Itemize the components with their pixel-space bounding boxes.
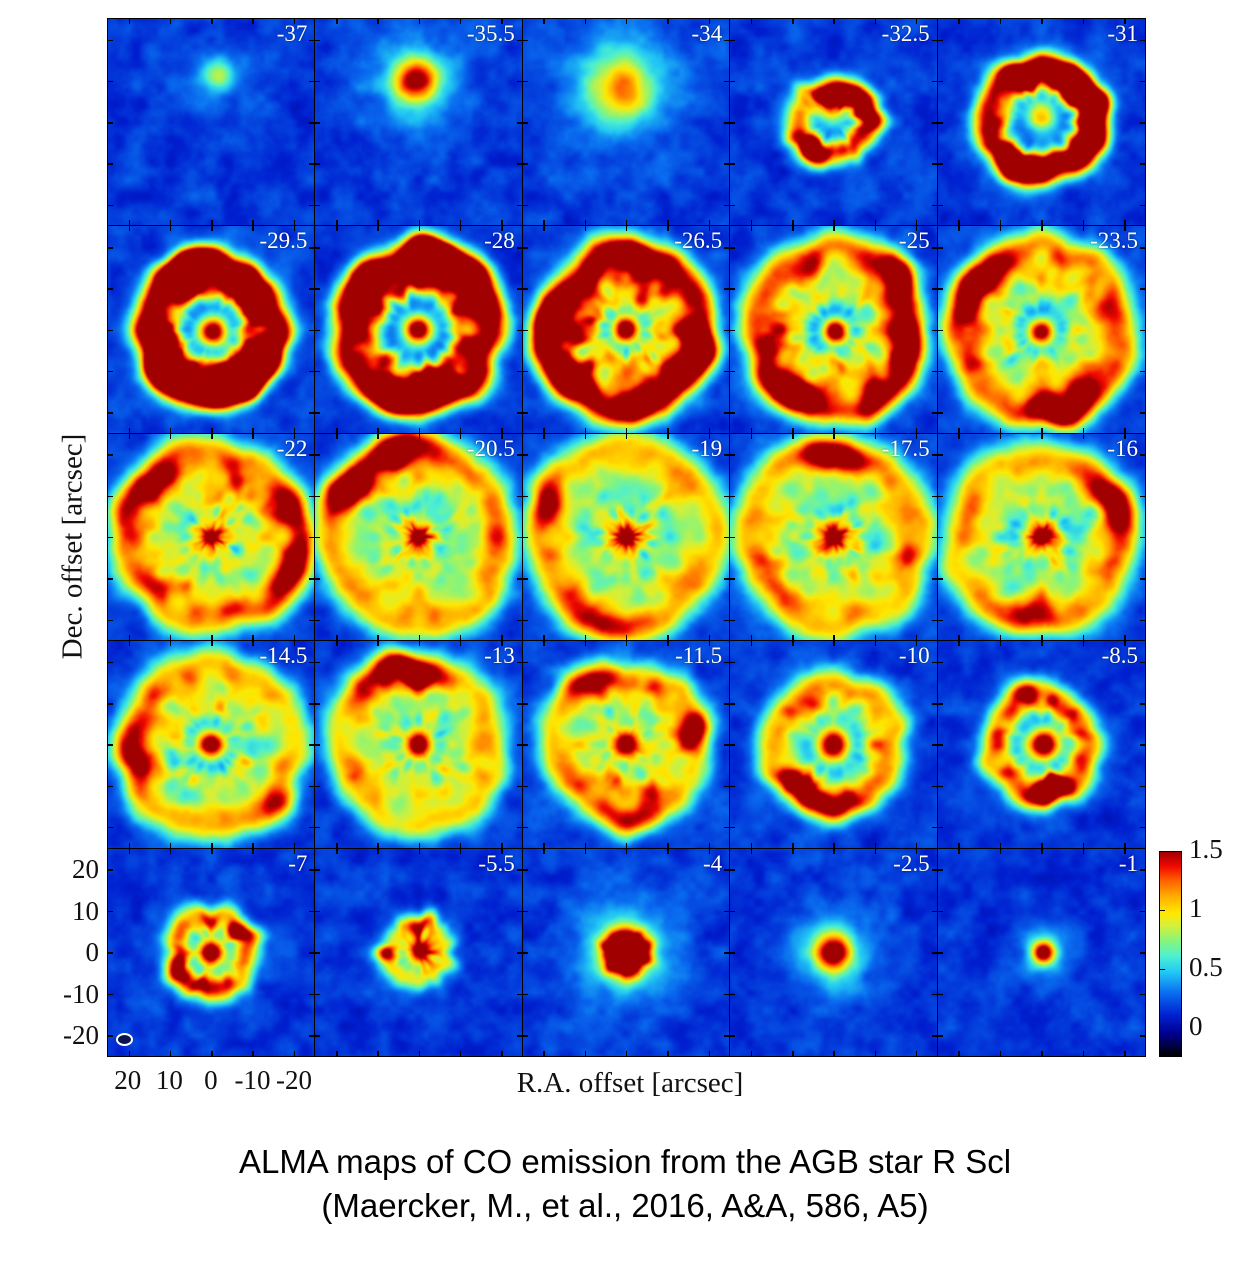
axis-tick xyxy=(309,1035,314,1037)
axis-tick xyxy=(932,994,937,996)
axis-tick xyxy=(252,226,254,231)
axis-tick xyxy=(460,641,462,646)
axis-tick xyxy=(543,641,545,646)
axis-tick xyxy=(170,220,172,225)
axis-tick xyxy=(1041,1051,1043,1056)
axis-tick xyxy=(315,952,320,954)
axis-tick xyxy=(938,786,943,788)
axis-tick xyxy=(419,641,421,646)
axis-tick xyxy=(585,226,587,231)
axis-tick xyxy=(336,635,338,640)
axis-tick xyxy=(938,496,943,498)
axis-tick xyxy=(377,434,379,439)
figure-caption: ALMA maps of CO emission from the AGB st… xyxy=(0,1140,1250,1227)
axis-tick xyxy=(958,1051,960,1056)
axis-tick xyxy=(517,288,522,290)
axis-tick xyxy=(309,163,314,165)
axis-tick xyxy=(129,220,131,225)
axis-tick xyxy=(336,428,338,433)
axis-tick xyxy=(523,371,528,373)
axis-tick xyxy=(523,496,528,498)
axis-tick xyxy=(108,205,113,207)
axis-tick xyxy=(460,843,462,848)
axis-tick xyxy=(709,1051,711,1056)
axis-tick xyxy=(419,849,421,854)
axis-tick xyxy=(315,620,320,622)
axis-tick xyxy=(129,226,131,231)
axis-tick xyxy=(709,843,711,848)
axis-tick xyxy=(792,641,794,646)
axis-tick xyxy=(294,1051,296,1056)
axis-tick xyxy=(523,620,528,622)
axis-tick xyxy=(751,849,753,854)
axis-tick xyxy=(792,1051,794,1056)
channel-panel: -4 xyxy=(523,849,730,1056)
channel-panel: -22 xyxy=(108,434,315,641)
axis-tick xyxy=(1000,226,1002,231)
channel-panel: -10 xyxy=(730,641,937,848)
axis-tick xyxy=(1140,496,1145,498)
axis-tick xyxy=(724,994,729,996)
axis-tick xyxy=(938,122,943,124)
axis-tick xyxy=(1041,635,1043,640)
axis-tick xyxy=(523,786,528,788)
axis-tick xyxy=(315,371,320,373)
axis-tick xyxy=(501,434,503,439)
axis-tick xyxy=(730,662,735,664)
axis-tick xyxy=(129,428,131,433)
axis-tick xyxy=(751,19,753,24)
axis-tick xyxy=(875,434,877,439)
axis-tick xyxy=(315,247,320,249)
axis-tick xyxy=(724,578,729,580)
axis-tick xyxy=(129,1051,131,1056)
axis-tick xyxy=(419,226,421,231)
axis-tick xyxy=(501,19,503,24)
axis-tick xyxy=(1140,537,1145,539)
axis-tick xyxy=(724,537,729,539)
axis-tick xyxy=(170,843,172,848)
axis-tick xyxy=(724,827,729,829)
axis-tick xyxy=(309,330,314,332)
channel-map-image xyxy=(315,434,521,640)
axis-tick xyxy=(938,40,943,42)
axis-tick xyxy=(1041,641,1043,646)
axis-tick xyxy=(585,1051,587,1056)
axis-tick xyxy=(517,496,522,498)
channel-map-image xyxy=(108,641,314,847)
axis-tick xyxy=(108,247,113,249)
axis-tick xyxy=(875,428,877,433)
axis-tick xyxy=(419,428,421,433)
axis-tick xyxy=(170,849,172,854)
axis-tick xyxy=(667,220,669,225)
channel-map-image xyxy=(730,434,936,640)
colorbar-tick xyxy=(1159,969,1165,971)
y-tick-label: -10 xyxy=(49,979,99,1010)
axis-tick xyxy=(938,1035,943,1037)
axis-tick xyxy=(315,1035,320,1037)
axis-tick xyxy=(523,911,528,913)
axis-tick xyxy=(724,163,729,165)
axis-tick xyxy=(938,81,943,83)
axis-tick xyxy=(523,994,528,996)
axis-tick xyxy=(730,205,735,207)
channel-panel: -1 xyxy=(938,849,1145,1056)
axis-tick xyxy=(309,371,314,373)
axis-tick xyxy=(875,635,877,640)
axis-tick xyxy=(460,19,462,24)
axis-tick xyxy=(517,81,522,83)
axis-tick xyxy=(309,496,314,498)
axis-tick xyxy=(916,428,918,433)
axis-tick xyxy=(709,434,711,439)
axis-tick xyxy=(1000,843,1002,848)
axis-tick xyxy=(626,220,628,225)
axis-tick xyxy=(501,635,503,640)
axis-tick xyxy=(129,641,131,646)
axis-tick xyxy=(585,434,587,439)
axis-tick xyxy=(252,641,254,646)
axis-tick xyxy=(958,434,960,439)
axis-tick xyxy=(1124,19,1126,24)
axis-tick xyxy=(543,434,545,439)
channel-map-image xyxy=(938,19,1145,225)
y-axis-title: Dec. offset [arcsec] xyxy=(57,407,90,687)
axis-tick xyxy=(626,635,628,640)
axis-tick xyxy=(108,412,113,414)
axis-tick xyxy=(108,994,113,996)
axis-tick xyxy=(932,163,937,165)
axis-tick xyxy=(1140,81,1145,83)
axis-tick xyxy=(932,330,937,332)
axis-tick xyxy=(1124,849,1126,854)
axis-tick xyxy=(792,226,794,231)
axis-tick xyxy=(309,744,314,746)
axis-tick xyxy=(792,849,794,854)
axis-tick xyxy=(833,220,835,225)
axis-tick xyxy=(460,226,462,231)
channel-panel: -25 xyxy=(730,226,937,433)
axis-tick xyxy=(517,952,522,954)
axis-tick xyxy=(938,620,943,622)
axis-tick xyxy=(543,849,545,854)
axis-tick xyxy=(377,220,379,225)
axis-tick xyxy=(916,635,918,640)
axis-tick xyxy=(1140,412,1145,414)
axis-tick xyxy=(315,454,320,456)
axis-tick xyxy=(833,849,835,854)
axis-tick xyxy=(958,635,960,640)
axis-tick xyxy=(108,537,113,539)
axis-tick xyxy=(252,843,254,848)
axis-tick xyxy=(730,40,735,42)
axis-tick xyxy=(938,994,943,996)
axis-tick xyxy=(938,827,943,829)
axis-tick xyxy=(709,428,711,433)
axis-tick xyxy=(724,247,729,249)
axis-tick xyxy=(336,220,338,225)
axis-tick xyxy=(938,662,943,664)
channel-map-image xyxy=(730,226,936,432)
caption-line-1: ALMA maps of CO emission from the AGB st… xyxy=(0,1140,1250,1184)
axis-tick xyxy=(523,330,528,332)
axis-tick xyxy=(309,952,314,954)
channel-panel: -20.5 xyxy=(315,434,522,641)
channel-panel: -26.5 xyxy=(523,226,730,433)
axis-tick xyxy=(294,19,296,24)
axis-tick xyxy=(315,81,320,83)
axis-tick xyxy=(1140,288,1145,290)
axis-tick xyxy=(916,849,918,854)
axis-tick xyxy=(724,40,729,42)
channel-panel: -19 xyxy=(523,434,730,641)
axis-tick xyxy=(108,454,113,456)
axis-tick xyxy=(730,827,735,829)
channel-panel: -32.5 xyxy=(730,19,937,226)
axis-tick xyxy=(108,288,113,290)
axis-tick xyxy=(1000,434,1002,439)
axis-tick xyxy=(108,744,113,746)
axis-tick xyxy=(1124,641,1126,646)
axis-tick xyxy=(1000,849,1002,854)
axis-tick xyxy=(667,434,669,439)
axis-tick xyxy=(170,641,172,646)
axis-tick xyxy=(129,849,131,854)
alma-channel-map-figure: -37-35.5-34-32.5-31-29.5-28-26.5-25-23.5… xyxy=(0,0,1250,1261)
axis-tick xyxy=(309,869,314,871)
axis-tick xyxy=(875,19,877,24)
axis-tick xyxy=(958,226,960,231)
axis-tick xyxy=(751,226,753,231)
axis-tick xyxy=(460,434,462,439)
colorbar-tick-label: 0 xyxy=(1189,1011,1203,1042)
axis-tick xyxy=(460,849,462,854)
axis-tick xyxy=(1140,869,1145,871)
axis-tick xyxy=(501,220,503,225)
axis-tick xyxy=(938,911,943,913)
axis-tick xyxy=(517,330,522,332)
axis-tick xyxy=(517,620,522,622)
channel-panel: -31 xyxy=(938,19,1145,226)
axis-tick xyxy=(294,635,296,640)
axis-tick xyxy=(730,703,735,705)
axis-tick xyxy=(517,994,522,996)
y-tick-label: -20 xyxy=(49,1020,99,1051)
channel-map-image xyxy=(730,641,936,847)
axis-tick xyxy=(724,371,729,373)
axis-tick xyxy=(709,226,711,231)
axis-tick xyxy=(1124,434,1126,439)
axis-tick xyxy=(108,496,113,498)
axis-tick xyxy=(315,744,320,746)
axis-tick xyxy=(724,122,729,124)
axis-tick xyxy=(1140,620,1145,622)
axis-tick xyxy=(751,641,753,646)
axis-tick xyxy=(315,703,320,705)
x-axis-title: R.A. offset [arcsec] xyxy=(440,1067,820,1100)
axis-tick xyxy=(523,869,528,871)
axis-tick xyxy=(626,843,628,848)
channel-panel: -29.5 xyxy=(108,226,315,433)
axis-tick xyxy=(377,635,379,640)
axis-tick xyxy=(667,226,669,231)
axis-tick xyxy=(517,454,522,456)
axis-tick xyxy=(252,220,254,225)
channel-map-image xyxy=(108,19,314,225)
axis-tick xyxy=(108,122,113,124)
axis-tick xyxy=(1140,994,1145,996)
axis-tick xyxy=(315,786,320,788)
axis-tick xyxy=(523,537,528,539)
axis-tick xyxy=(875,1051,877,1056)
axis-tick xyxy=(751,1051,753,1056)
axis-tick xyxy=(419,434,421,439)
axis-tick xyxy=(1083,19,1085,24)
axis-tick xyxy=(309,786,314,788)
axis-tick xyxy=(1124,226,1126,231)
axis-tick xyxy=(336,226,338,231)
channel-map-grid: -37-35.5-34-32.5-31-29.5-28-26.5-25-23.5… xyxy=(107,18,1146,1057)
axis-tick xyxy=(309,247,314,249)
axis-tick xyxy=(517,827,522,829)
axis-tick xyxy=(523,744,528,746)
channel-map-image xyxy=(730,849,936,1056)
axis-tick xyxy=(730,122,735,124)
axis-tick xyxy=(932,786,937,788)
axis-tick xyxy=(1140,454,1145,456)
axis-tick xyxy=(1083,843,1085,848)
y-tick-label: 10 xyxy=(49,896,99,927)
axis-tick xyxy=(108,1035,113,1037)
axis-tick xyxy=(724,911,729,913)
axis-tick xyxy=(667,635,669,640)
axis-tick xyxy=(377,428,379,433)
colorbar-tick-label: 1.5 xyxy=(1189,834,1223,865)
x-tick-label: -20 xyxy=(269,1065,319,1096)
channel-map-image xyxy=(938,849,1145,1056)
axis-tick xyxy=(377,1051,379,1056)
axis-tick xyxy=(667,1051,669,1056)
channel-map-image xyxy=(523,226,729,432)
channel-map-image xyxy=(523,434,729,640)
axis-tick xyxy=(626,1051,628,1056)
channel-map-image xyxy=(108,226,314,432)
axis-tick xyxy=(294,226,296,231)
axis-tick xyxy=(938,537,943,539)
axis-tick xyxy=(724,205,729,207)
axis-tick xyxy=(501,226,503,231)
axis-tick xyxy=(1083,641,1085,646)
channel-map-image xyxy=(730,19,936,225)
axis-tick xyxy=(667,19,669,24)
axis-tick xyxy=(211,849,213,854)
axis-tick xyxy=(211,1051,213,1056)
axis-tick xyxy=(315,122,320,124)
axis-tick xyxy=(1140,371,1145,373)
axis-tick xyxy=(543,635,545,640)
axis-tick xyxy=(523,952,528,954)
axis-tick xyxy=(1083,635,1085,640)
axis-tick xyxy=(1041,849,1043,854)
axis-tick xyxy=(1140,40,1145,42)
channel-panel: -14.5 xyxy=(108,641,315,848)
axis-tick xyxy=(294,428,296,433)
axis-tick xyxy=(336,843,338,848)
axis-tick xyxy=(1000,635,1002,640)
axis-tick xyxy=(792,843,794,848)
axis-tick xyxy=(938,952,943,954)
axis-tick xyxy=(336,19,338,24)
axis-tick xyxy=(211,19,213,24)
beam-size-marker xyxy=(116,1033,133,1046)
axis-tick xyxy=(833,226,835,231)
axis-tick xyxy=(833,641,835,646)
axis-tick xyxy=(252,434,254,439)
axis-tick xyxy=(108,703,113,705)
axis-tick xyxy=(751,428,753,433)
axis-tick xyxy=(315,662,320,664)
axis-tick xyxy=(938,330,943,332)
axis-tick xyxy=(938,205,943,207)
axis-tick xyxy=(543,843,545,848)
axis-tick xyxy=(543,19,545,24)
axis-tick xyxy=(730,330,735,332)
axis-tick xyxy=(108,578,113,580)
axis-tick xyxy=(517,122,522,124)
axis-tick xyxy=(517,578,522,580)
channel-panel: -2.5 xyxy=(730,849,937,1056)
channel-panel: -37 xyxy=(108,19,315,226)
axis-tick xyxy=(730,371,735,373)
axis-tick xyxy=(501,428,503,433)
axis-tick xyxy=(108,952,113,954)
channel-panel: -34 xyxy=(523,19,730,226)
axis-tick xyxy=(667,428,669,433)
axis-tick xyxy=(108,911,113,913)
axis-tick xyxy=(938,869,943,871)
axis-tick xyxy=(792,428,794,433)
axis-tick xyxy=(1083,849,1085,854)
axis-tick xyxy=(1140,205,1145,207)
axis-tick xyxy=(309,454,314,456)
axis-tick xyxy=(932,122,937,124)
axis-tick xyxy=(517,1035,522,1037)
axis-tick xyxy=(211,226,213,231)
axis-tick xyxy=(129,434,131,439)
axis-tick xyxy=(724,662,729,664)
axis-tick xyxy=(419,220,421,225)
axis-tick xyxy=(724,703,729,705)
axis-tick xyxy=(916,843,918,848)
channel-map-image xyxy=(315,641,521,847)
axis-tick xyxy=(309,911,314,913)
axis-tick xyxy=(1140,330,1145,332)
axis-tick xyxy=(501,849,503,854)
axis-tick xyxy=(932,81,937,83)
axis-tick xyxy=(108,662,113,664)
axis-tick xyxy=(932,1035,937,1037)
axis-tick xyxy=(1140,247,1145,249)
axis-tick xyxy=(938,288,943,290)
axis-tick xyxy=(1140,911,1145,913)
axis-tick xyxy=(1140,744,1145,746)
axis-tick xyxy=(958,428,960,433)
axis-tick xyxy=(170,428,172,433)
axis-tick xyxy=(523,81,528,83)
axis-tick xyxy=(724,81,729,83)
axis-tick xyxy=(419,843,421,848)
